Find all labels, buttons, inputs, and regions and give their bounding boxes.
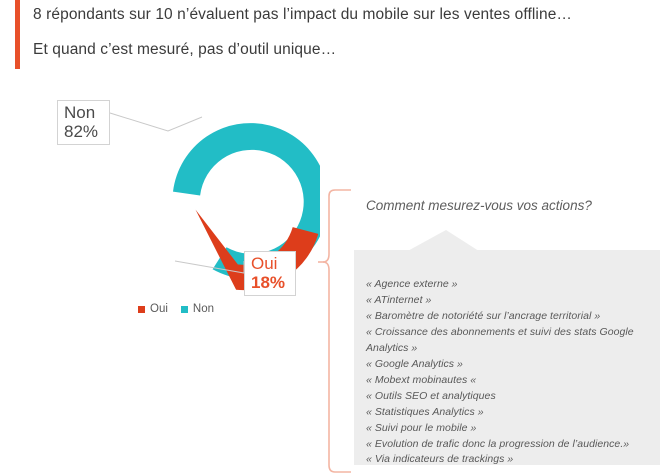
list-item: « Evolution de trafic donc la progressio…	[366, 437, 648, 453]
list-item: « Baromètre de notoriété sur l’ancrage t…	[366, 309, 648, 325]
callout-non-label: Non	[64, 103, 103, 122]
headline-secondary: Et quand c’est mesuré, pas d’outil uniqu…	[33, 41, 336, 59]
header-block: 8 répondants sur 10 n’évaluent pas l’imp…	[0, 0, 660, 78]
callout-oui-label: Oui	[251, 254, 289, 273]
callout-non-value: 82%	[64, 122, 103, 141]
legend-label-non: Non	[193, 303, 214, 315]
panel-question: Comment mesurez-vous vos actions?	[366, 198, 592, 213]
legend-swatch-non-icon	[181, 306, 188, 313]
legend-item-non[interactable]: Non	[181, 303, 214, 315]
legend-label-oui: Oui	[150, 303, 168, 315]
list-item: « Agence externe »	[366, 277, 648, 293]
list-item: « Mobext mobinautes «	[366, 373, 648, 389]
donut-chart: Non 82% Oui 18% Oui Non	[40, 95, 320, 335]
callout-non: Non 82%	[57, 100, 110, 145]
leader-line-non	[110, 113, 202, 131]
headline-primary: 8 répondants sur 10 n’évaluent pas l’imp…	[33, 6, 572, 24]
list-item: « Google Analytics »	[366, 357, 648, 373]
list-item: « Via indicateurs de trackings »	[366, 452, 648, 468]
callout-oui-value: 18%	[251, 273, 289, 292]
legend-item-oui[interactable]: Oui	[138, 303, 168, 315]
chart-legend: Oui Non	[138, 303, 214, 315]
list-item: « Outils SEO et analytiques	[366, 389, 648, 405]
list-item: « ATinternet »	[366, 293, 648, 309]
list-item: « Croissance des abonnements et suivi de…	[366, 325, 648, 357]
list-item: « Statistiques Analytics »	[366, 405, 648, 421]
accent-bar	[15, 0, 20, 69]
answers-list: « Agence externe » « ATinternet » « Baro…	[366, 277, 648, 468]
legend-swatch-oui-icon	[138, 306, 145, 313]
callout-oui: Oui 18%	[244, 251, 296, 296]
verbatim-panel: Comment mesurez-vous vos actions? « Agen…	[318, 188, 660, 475]
curly-bracket-icon	[318, 188, 358, 475]
list-item: « Suivi pour le mobile »	[366, 421, 648, 437]
